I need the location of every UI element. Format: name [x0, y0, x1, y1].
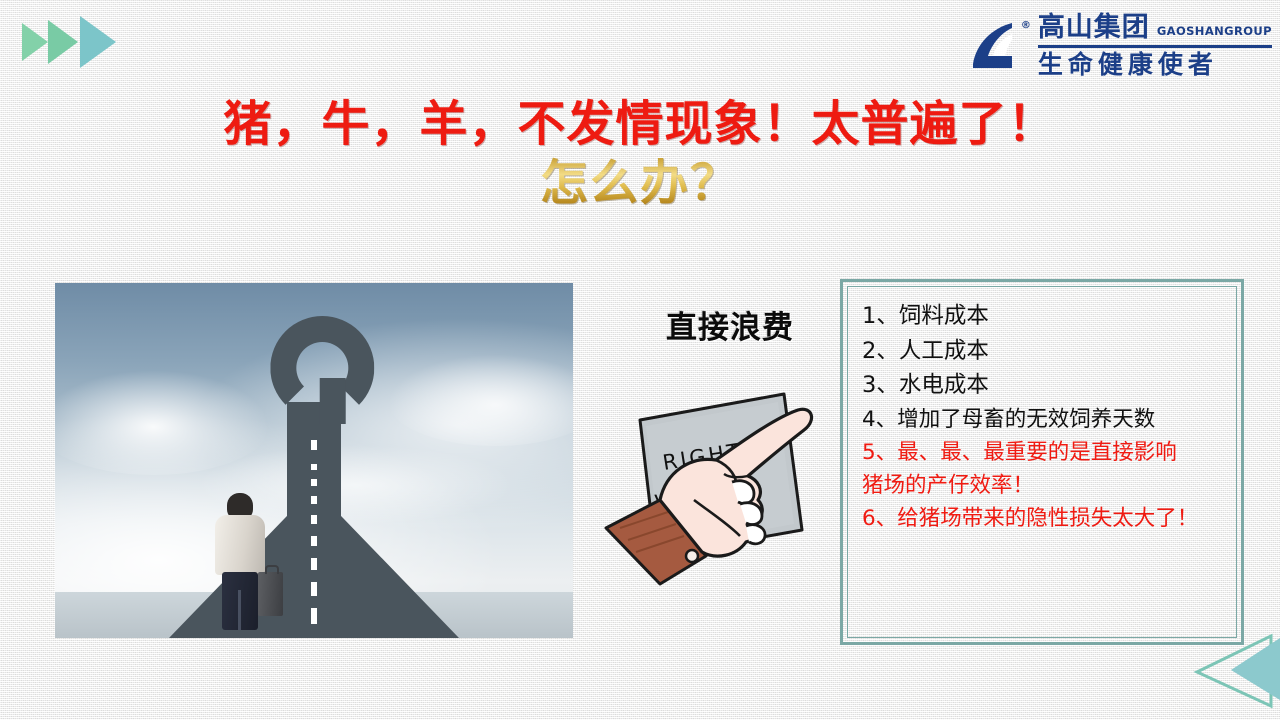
slide-canvas: ® 高山集团 GAOSHANGROUP 生命健康使者 猪，牛，羊，不发情现象！太… — [0, 0, 1280, 720]
arrow-triangle-2 — [48, 20, 78, 64]
list-item-text: 给猪场带来的隐性损失太大了！ — [897, 506, 1198, 531]
arrow-triangle-1 — [22, 23, 48, 61]
list-item-text: 最、最、最重要的是直接影响 — [897, 440, 1177, 465]
list-item: 6、给猪场带来的隐性损失太大了！ — [862, 504, 1230, 534]
list-item-number: 6、 — [862, 504, 897, 534]
photo-man-leg-gap — [238, 590, 241, 630]
list-item-text: 水电成本 — [899, 372, 989, 398]
road-dash — [311, 608, 317, 624]
list-item: 1、饲料成本 — [862, 301, 1230, 333]
list-item: 2、人工成本 — [862, 336, 1230, 368]
logo-text-block: 高山集团 GAOSHANGROUP 生命健康使者 — [1038, 14, 1272, 77]
cost-list-inner-border: 1、饲料成本 2、人工成本 3、水电成本 4、增加了母畜的无效饲养天数 5、最、… — [847, 286, 1237, 638]
list-item-text: 人工成本 — [899, 338, 989, 364]
photo-briefcase — [258, 572, 283, 616]
road-dash — [311, 479, 317, 486]
triple-right-arrow-decoration — [22, 14, 132, 70]
registered-trademark-icon: ® — [1021, 20, 1031, 31]
road-dash — [311, 558, 317, 570]
road-dash — [311, 440, 317, 450]
double-left-arrow-decoration — [1145, 628, 1280, 720]
list-item-number: 4、 — [862, 405, 897, 435]
list-item: 3、水电成本 — [862, 370, 1230, 402]
photo-question-mark-neck — [320, 378, 346, 424]
list-item-number: 5、 — [862, 438, 897, 468]
gaoshan-mountain-mark: ® — [968, 14, 1030, 76]
logo-company-name-cn: 高山集团 — [1038, 14, 1150, 41]
photo-man-torso — [215, 515, 265, 575]
list-item: 4、增加了母畜的无效饲养天数 — [862, 405, 1230, 435]
list-item-number: 1、 — [862, 301, 899, 333]
road-dash — [311, 582, 317, 596]
road-dash — [311, 464, 317, 470]
list-item: 5、最、最、最重要的是直接影响 — [862, 438, 1230, 468]
list-item-number: 2、 — [862, 336, 899, 368]
list-item-text: 饲料成本 — [899, 303, 989, 329]
road-dash — [311, 515, 317, 524]
businessman-question-mark-road-photo — [55, 283, 573, 638]
direct-waste-label: 直接浪费 — [645, 302, 815, 347]
company-logo: ® 高山集团 GAOSHANGROUP 生命健康使者 — [968, 6, 1272, 84]
slide-title-line2: 怎么办？ — [0, 143, 1280, 213]
list-item-text: 增加了母畜的无效饲养天数 — [897, 407, 1155, 432]
logo-company-name-en: GAOSHANGROUP — [1157, 26, 1272, 41]
list-item: 猪场的产仔效率！ — [862, 471, 1230, 501]
road-dash — [311, 496, 317, 504]
cost-list-box: 1、饲料成本 2、人工成本 3、水电成本 4、增加了母畜的无效饲养天数 5、最、… — [840, 279, 1244, 645]
logo-slogan: 生命健康使者 — [1038, 52, 1272, 77]
list-item-text: 猪场的产仔效率！ — [862, 473, 1034, 498]
logo-divider — [1038, 45, 1272, 48]
pointing-hand-with-right-way-card: RIGHT WAY — [598, 360, 833, 595]
road-dash — [311, 536, 317, 546]
arrow-triangle-3 — [80, 16, 116, 68]
list-item-number: 3、 — [862, 370, 899, 402]
photo-briefcase-handle — [265, 565, 279, 574]
